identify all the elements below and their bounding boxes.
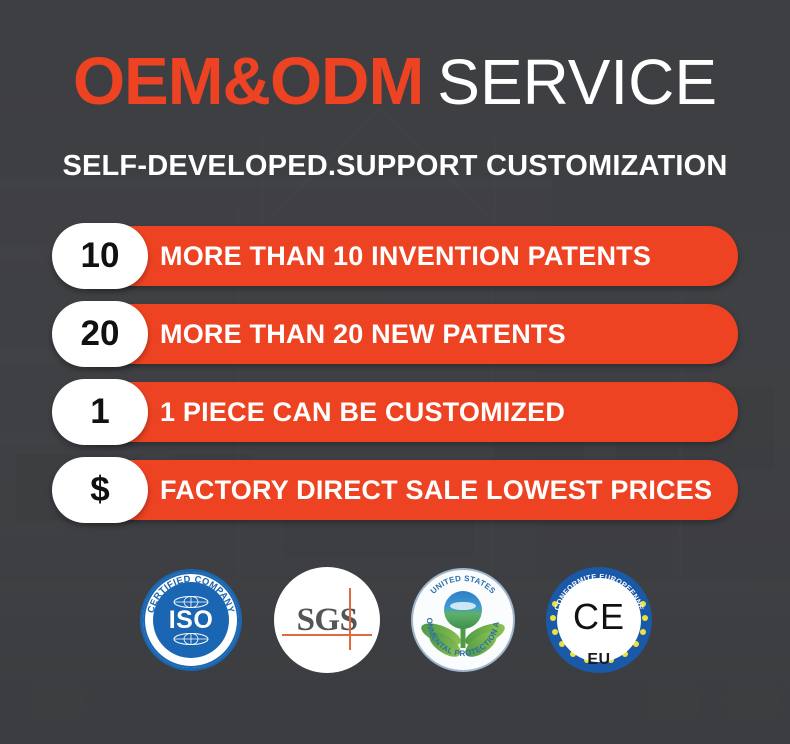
star-icon [552, 629, 558, 635]
feature-label: MORE THAN 20 NEW PATENTS [160, 304, 566, 364]
page-subtitle: SELF-DEVELOPED.SUPPORT CUSTOMIZATION [0, 150, 790, 183]
feature-label: FACTORY DIRECT SALE LOWEST PRICES [160, 460, 712, 520]
iso-badge-core: ISO [153, 582, 229, 658]
iso-certification-badge-icon: CERTIFIED COMPANY ISO 9001:2015 ISO [136, 565, 246, 675]
star-icon [642, 615, 648, 621]
sgs-badge-circle: SGS [274, 567, 380, 673]
star-icon [640, 629, 646, 635]
certification-badge-row: CERTIFIED COMPANY ISO 9001:2015 ISO [0, 565, 790, 675]
ce-badge-inner-circle: CE [557, 578, 641, 662]
feature-row: 20 MORE THAN 20 NEW PATENTS [0, 304, 790, 364]
epa-certification-badge-icon: UNITED STATES ENVIRONMENTAL PROTECTION A… [408, 565, 518, 675]
feature-label: MORE THAN 10 INVENTION PATENTS [160, 226, 651, 286]
sgs-certification-badge-icon: SGS [272, 565, 382, 675]
feature-badge: 20 [52, 301, 148, 367]
star-icon [552, 601, 558, 607]
feature-row: 10 MORE THAN 10 INVENTION PATENTS [0, 226, 790, 286]
ce-certification-badge-icon: CONFORMITE EUROPEENNE CE EU [544, 565, 654, 675]
feature-row: $ FACTORY DIRECT SALE LOWEST PRICES [0, 460, 790, 520]
sgs-badge-vertical-rule [349, 588, 351, 650]
sgs-badge-horizontal-rule [282, 634, 372, 636]
feature-badge: 10 [52, 223, 148, 289]
epa-badge-circle [411, 568, 515, 672]
feature-label: 1 PIECE CAN BE CUSTOMIZED [160, 382, 565, 442]
star-icon [640, 601, 646, 607]
feature-badge: 1 [52, 379, 148, 445]
headline-rest-text: SERVICE [437, 46, 717, 118]
promotional-banner: OEM&ODMSERVICE SELF-DEVELOPED.SUPPORT CU… [0, 0, 790, 744]
feature-row: 1 1 PIECE CAN BE CUSTOMIZED [0, 382, 790, 442]
feature-list: 10 MORE THAN 10 INVENTION PATENTS 20 MOR… [0, 226, 790, 538]
headline-accent-text: OEM&ODM [73, 44, 423, 119]
feature-badge: $ [52, 457, 148, 523]
page-title: OEM&ODMSERVICE [0, 48, 790, 115]
ce-badge-sub-mark: EU [544, 651, 654, 669]
ce-badge-mark: CE [573, 596, 625, 638]
globe-icon [171, 633, 211, 645]
epa-badge-globe-icon [444, 591, 482, 629]
star-icon [550, 615, 556, 621]
iso-badge-mark: ISO [169, 608, 214, 633]
